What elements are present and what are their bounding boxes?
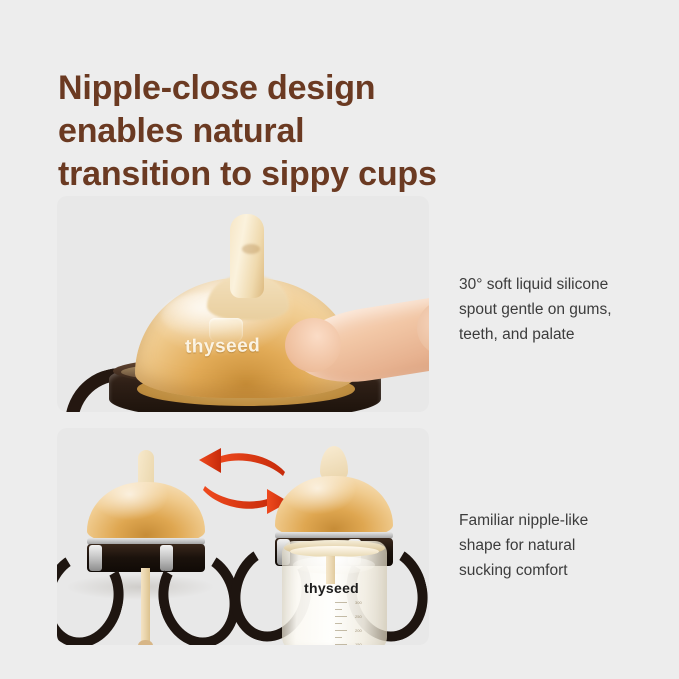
sippy-spout-illustration: thyseed <box>57 196 429 412</box>
page-title-line-3: transition to sippy cups <box>58 153 528 196</box>
sippy-spout <box>230 214 264 298</box>
spout-notch <box>242 244 260 254</box>
caption-line-2: shape for natural <box>459 533 649 558</box>
brand-logo-emboss: thyseed <box>185 335 261 358</box>
caption-line-1: 30° soft liquid silicone <box>459 272 649 297</box>
curved-arrow-left-icon <box>199 448 285 476</box>
page-title-line-1: Nipple-close design <box>58 67 528 110</box>
caption-line-1: Familiar nipple-like <box>459 508 649 533</box>
bottle-brand-label: thyseed <box>304 580 359 596</box>
page-title-line-2: enables natural <box>58 110 528 153</box>
caption-line-2: spout gentle on gums, <box>459 297 649 322</box>
caption-line-3: sucking comfort <box>459 558 649 583</box>
feature-caption-soft-spout: 30° soft liquid silicone spout gentle on… <box>459 272 649 347</box>
feature-caption-nipple-shape: Familiar nipple-like shape for natural s… <box>459 508 649 583</box>
feature-image-panel-nipple-shape: thyseed 300 250 200 150 <box>57 428 429 645</box>
volume-scale: 300 250 200 150 <box>335 600 369 645</box>
left-silicone-dome <box>87 482 205 544</box>
caption-line-3: teeth, and palate <box>459 322 649 347</box>
page-title: Nipple-close design enables natural tran… <box>58 67 528 196</box>
nipple-comparison-illustration: thyseed 300 250 200 150 <box>57 428 429 645</box>
left-straw-tip <box>138 640 153 645</box>
left-straw <box>141 568 150 645</box>
feature-image-panel-soft-spout: thyseed <box>57 196 429 412</box>
curved-arrow-right-icon <box>203 486 289 514</box>
